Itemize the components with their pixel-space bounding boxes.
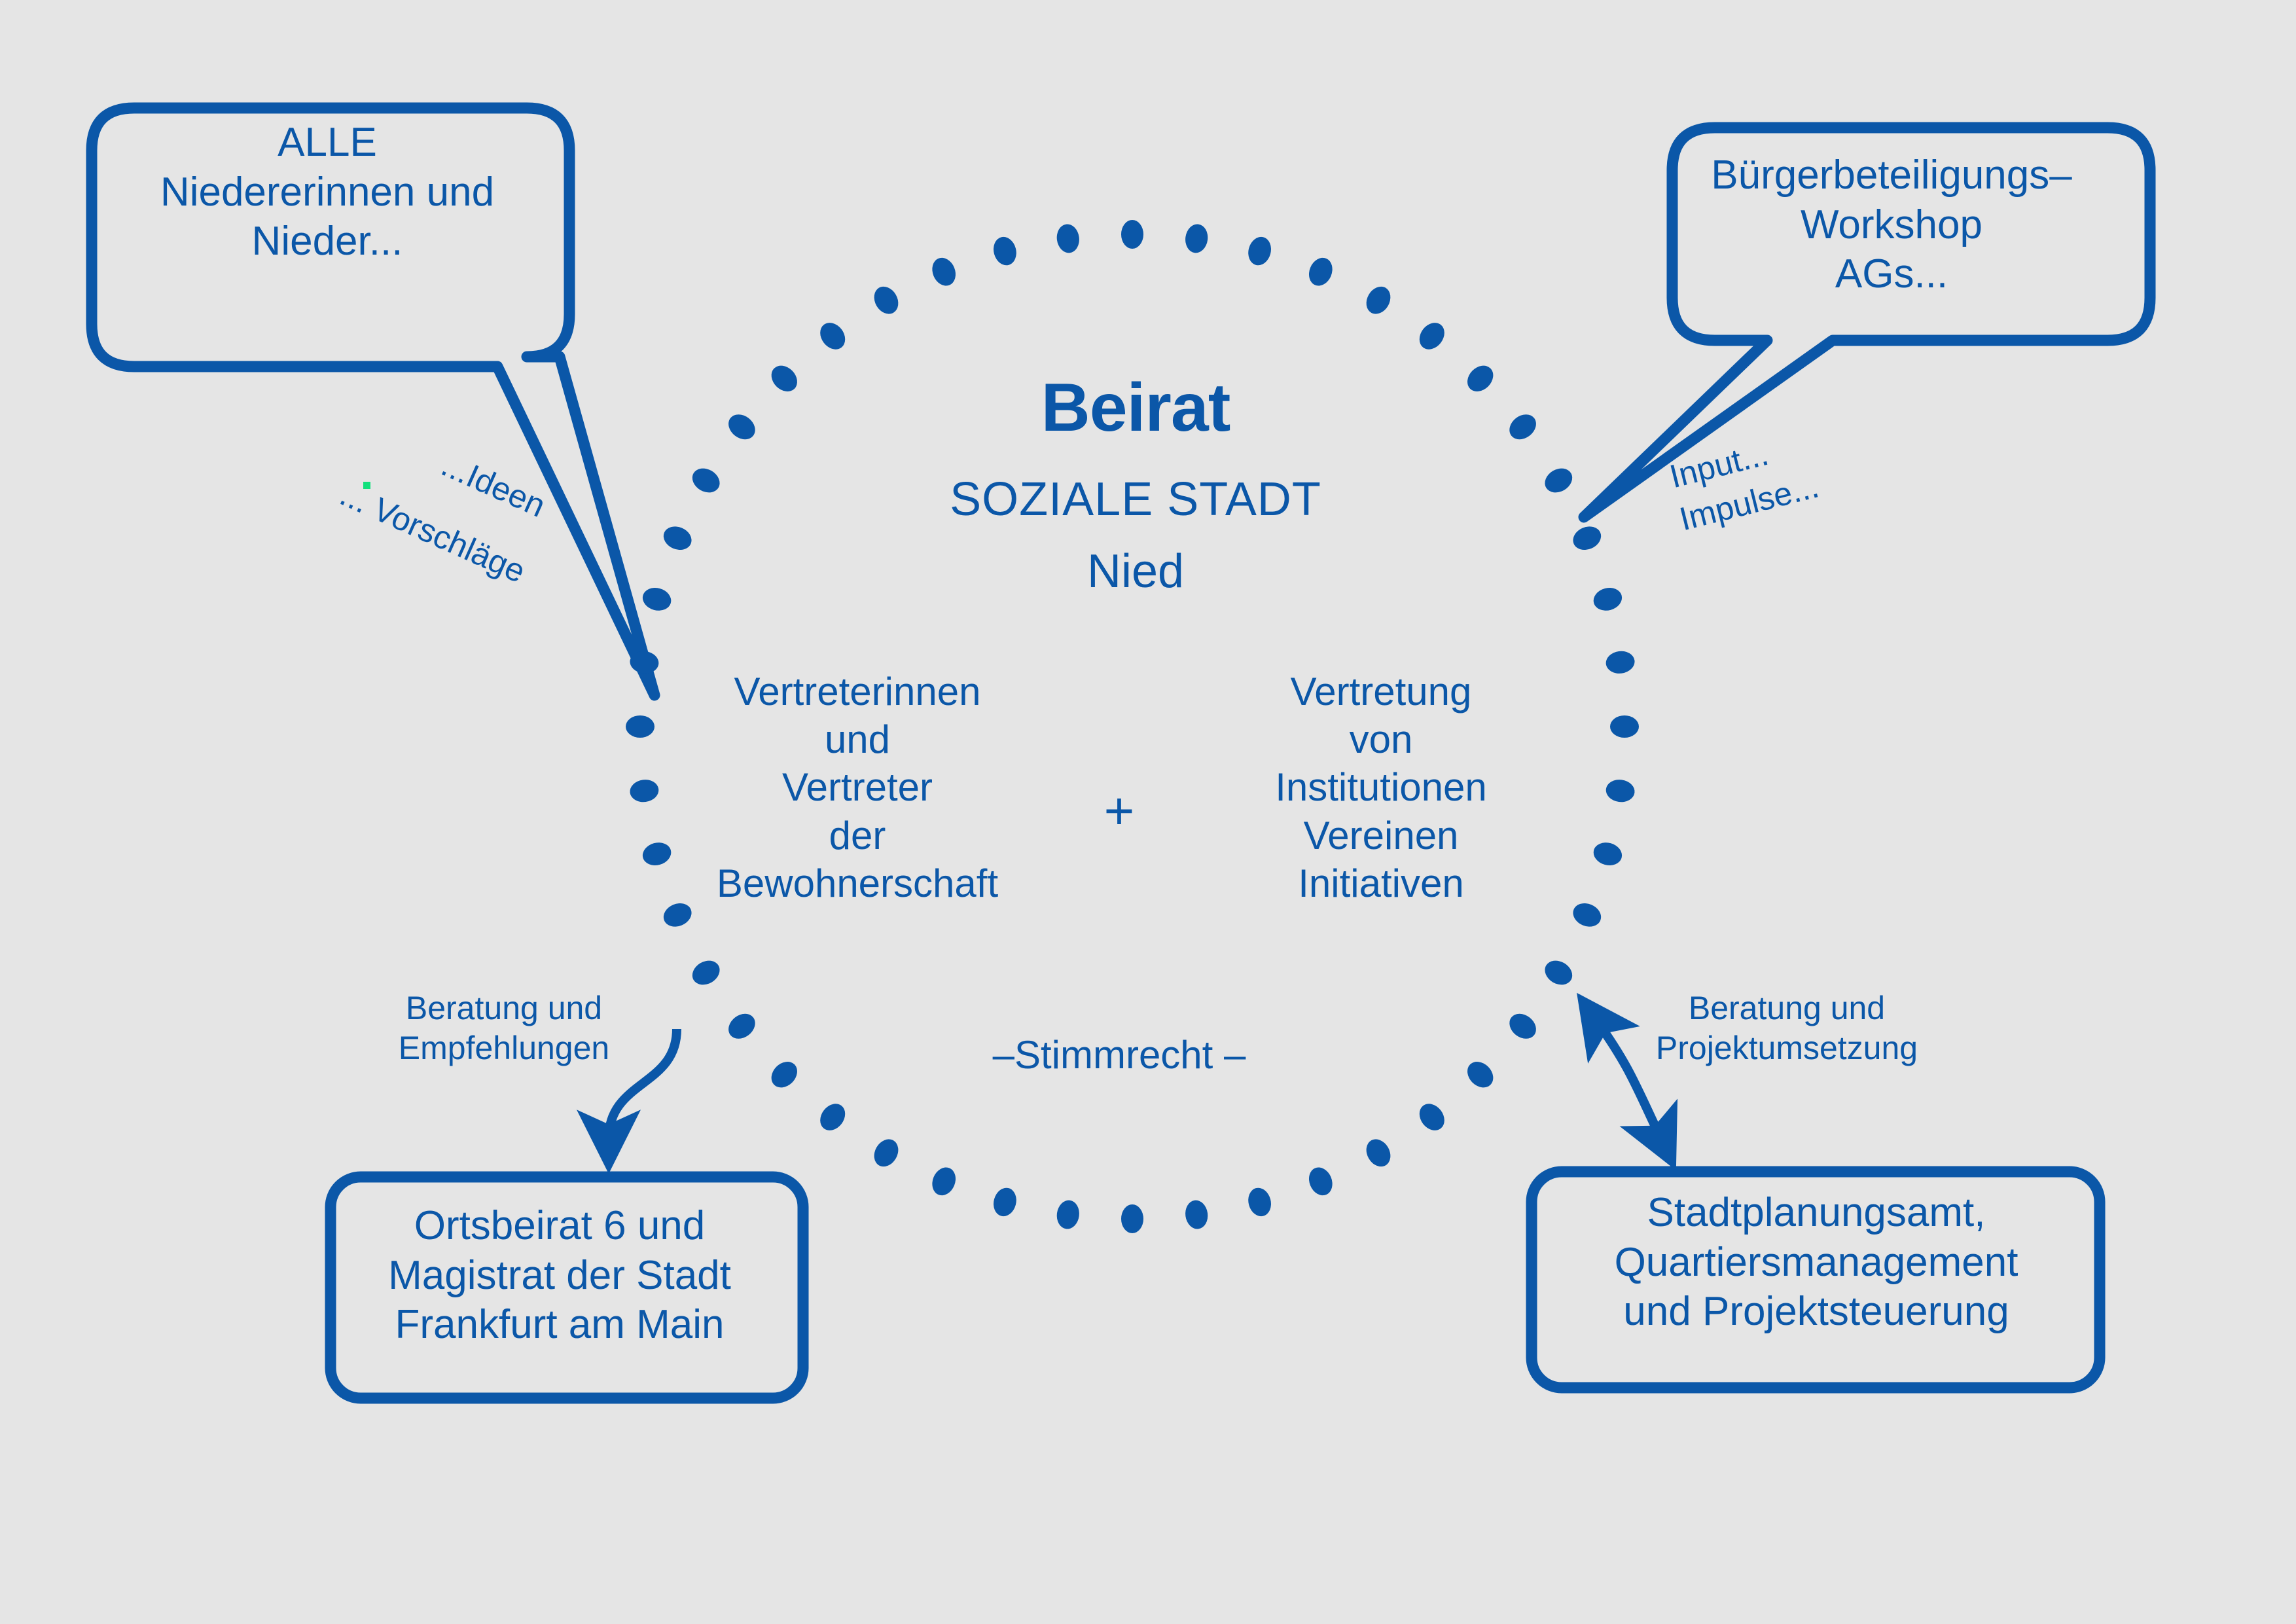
circle-dot [928,254,960,289]
flow-label-beratung-projektumsetzung: Beratung und Projektumsetzung [1630,988,1944,1068]
center-title: Beirat [805,367,1466,450]
circle-dot [1361,282,1395,318]
circle-dot [766,1056,802,1092]
circle-dot [1121,220,1143,249]
circle-dot [1414,318,1450,355]
center-column-right: Vertretung von Institutionen Vereinen In… [1185,668,1577,907]
circle-dot [1055,223,1081,254]
circle-dot [1361,1135,1395,1171]
center-column-left: Vertreterinnen und Vertreter der Bewohne… [655,668,1060,907]
box-bottom-right-text: Stadtplanungsamt, Quartiersmanagement un… [1535,1188,2098,1337]
box-bottom-left-text: Ortsbeirat 6 und Magistrat der Stadt Fra… [331,1201,789,1350]
center-subtitle-line2: Nied [805,543,1466,601]
circle-dot [724,409,761,444]
circle-dot [1055,1199,1081,1231]
circle-dot [688,463,724,497]
circle-dot [1591,585,1624,613]
circle-dot [815,1099,850,1136]
flow-label-beratung-empfehlungen: Beratung und Empfehlungen [367,988,641,1068]
speech-bubble-left-text: ALLE Niedererinnen und Nieder... [92,118,563,266]
circle-dot [869,1135,903,1171]
circle-dot [1541,463,1577,497]
circle-dot [815,318,850,355]
circle-dot [1610,715,1639,738]
circle-dot [688,956,724,989]
circle-dot [1505,409,1541,444]
circle-dot [1305,1164,1336,1199]
center-subtitle-line1: SOZIALE STADT [805,471,1466,529]
circle-dot [1505,1009,1541,1044]
center-footer-stimmrecht: –Stimmrecht – [910,1031,1329,1079]
circle-dot [869,282,903,318]
circle-dot [1183,223,1209,254]
speech-bubble-right-text: Bürgerbeteiligungs– Workshop AGs... [1662,151,2121,299]
circle-dot [1605,778,1636,803]
circle-dot [640,585,673,613]
circle-dot [1462,361,1498,397]
circle-dot [1541,956,1577,989]
circle-dot [1245,1185,1274,1219]
circle-dot [990,1185,1019,1219]
plus-sign: + [1060,779,1178,843]
circle-dot [660,522,695,554]
circle-dot [928,1164,960,1199]
circle-dot [766,361,802,397]
circle-dot [1305,254,1336,289]
circle-dot [1570,522,1605,554]
circle-dot [1414,1099,1450,1136]
circle-dot [1462,1056,1498,1092]
circle-dot [1591,839,1624,868]
green-dot-marker [363,482,370,489]
circle-dot [1245,234,1274,268]
circle-dot [724,1009,761,1044]
circle-dot [1121,1204,1143,1233]
circle-dot [1183,1199,1209,1231]
diagram-canvas: ALLE Niedererinnen und Nieder... Bürgerb… [0,0,2296,1624]
circle-dot [1605,649,1636,675]
circle-dot [990,234,1019,268]
circle-dot [626,715,655,738]
